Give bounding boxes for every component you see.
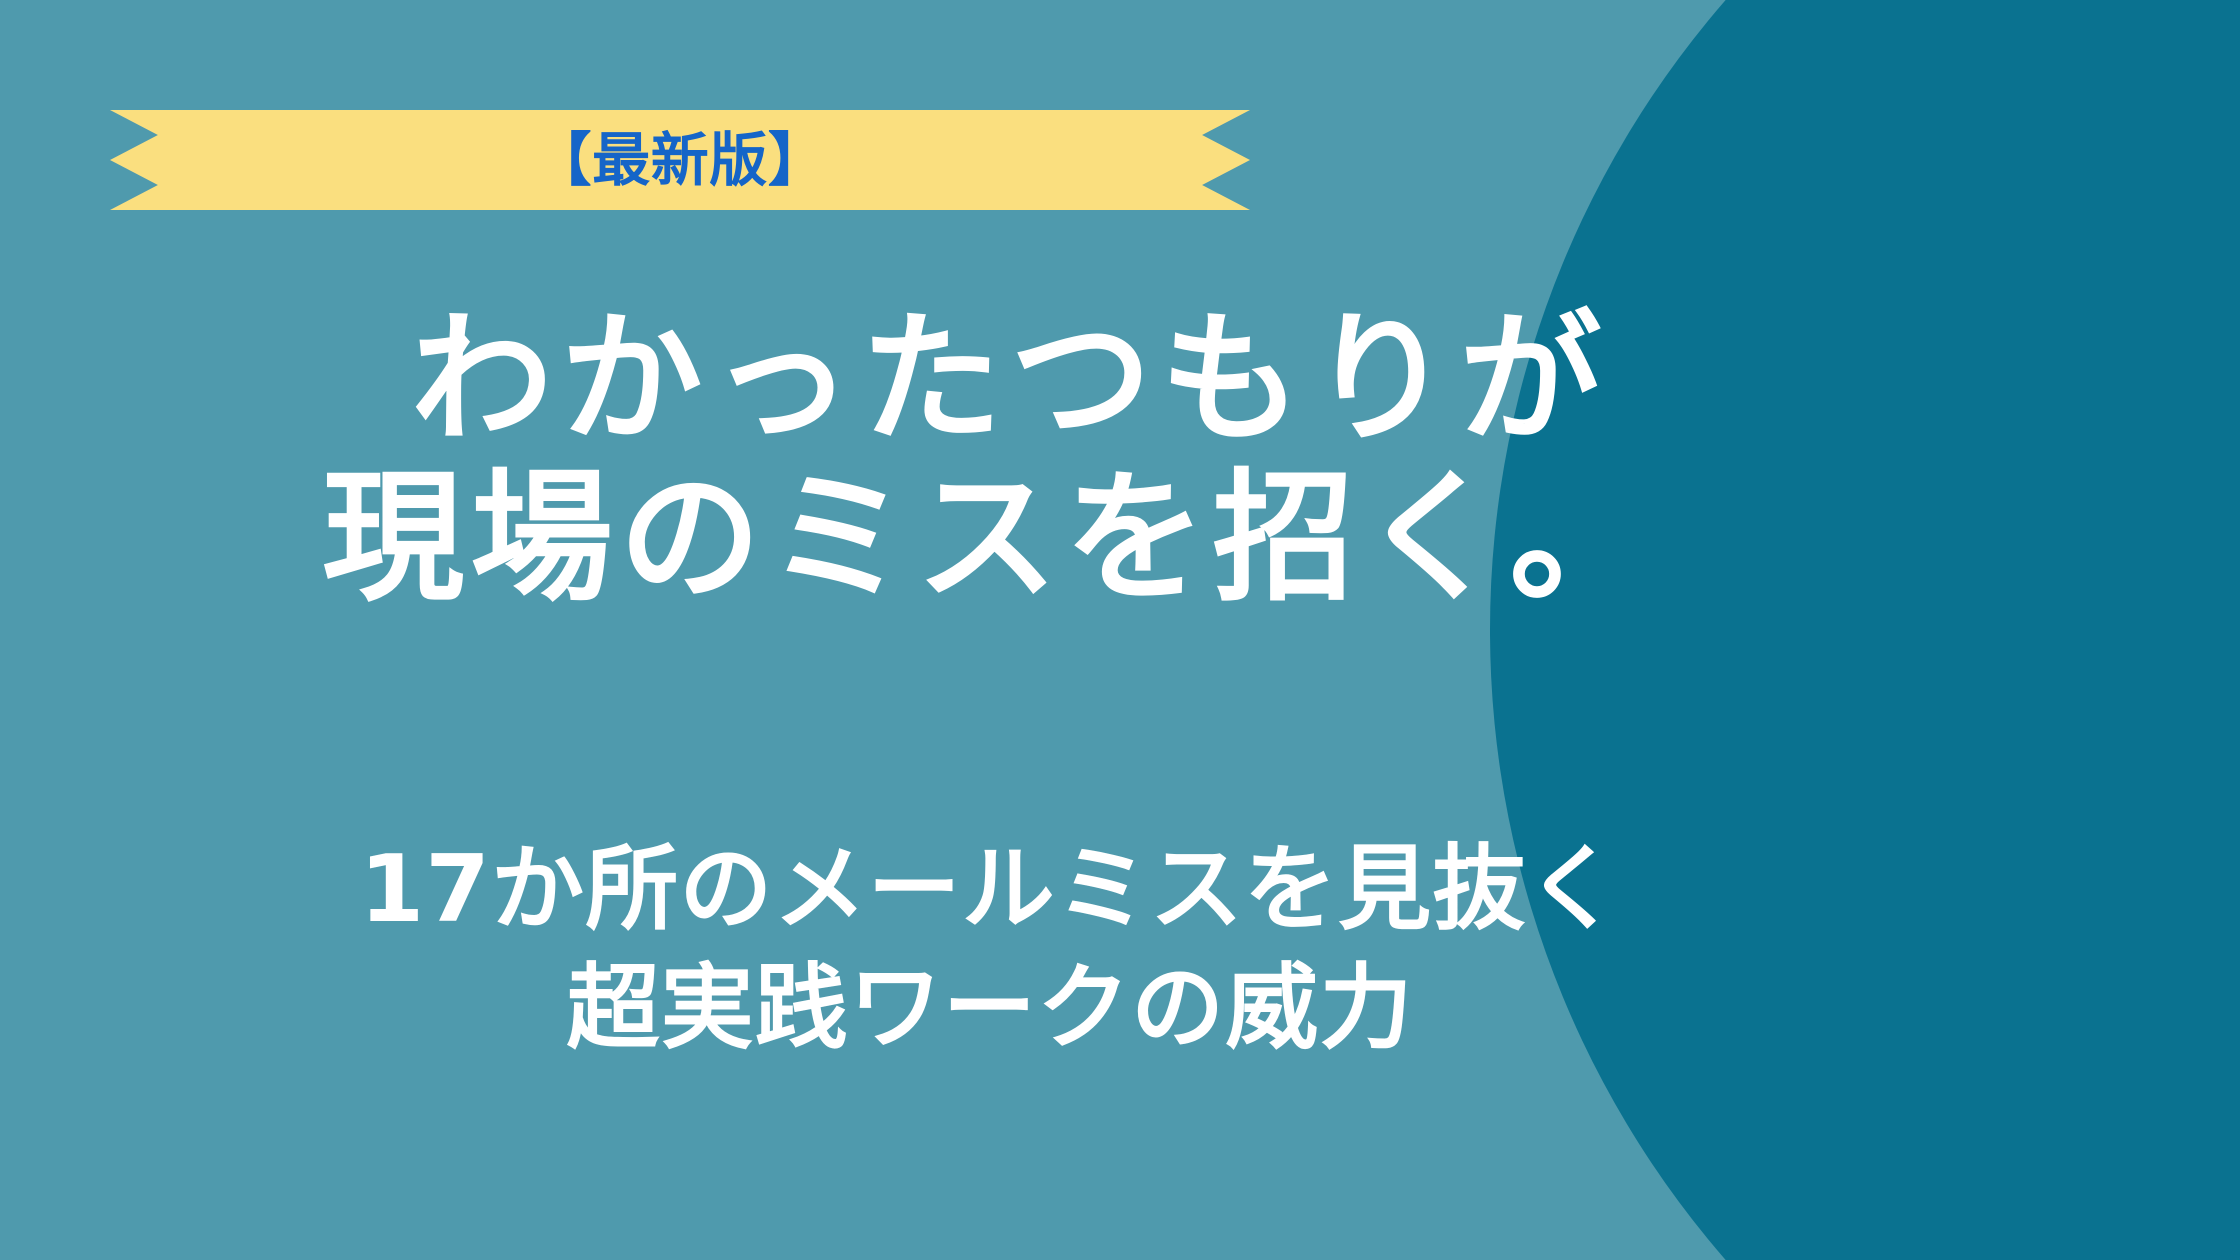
subheadline-line-2: 超実践ワークの威力 xyxy=(0,949,1980,1068)
badge-ribbon: 【最新版】 xyxy=(110,110,1250,210)
headline-line-2: 現場のミスを招く。 xyxy=(0,459,1980,618)
decorative-circle xyxy=(1490,0,2240,1260)
badge-label: 【最新版】 xyxy=(110,110,1250,210)
subheadline-line-1: 17か所のメールミスを見抜く xyxy=(0,830,1980,949)
page-subtitle: 17か所のメールミスを見抜く 超実践ワークの威力 xyxy=(0,830,1980,1068)
page-title: わかったつもりが 現場のミスを招く。 xyxy=(0,300,1980,618)
thumbnail-canvas: 【最新版】 わかったつもりが 現場のミスを招く。 17か所のメールミスを見抜く … xyxy=(0,0,2240,1260)
headline-line-1: わかったつもりが xyxy=(0,300,1980,459)
